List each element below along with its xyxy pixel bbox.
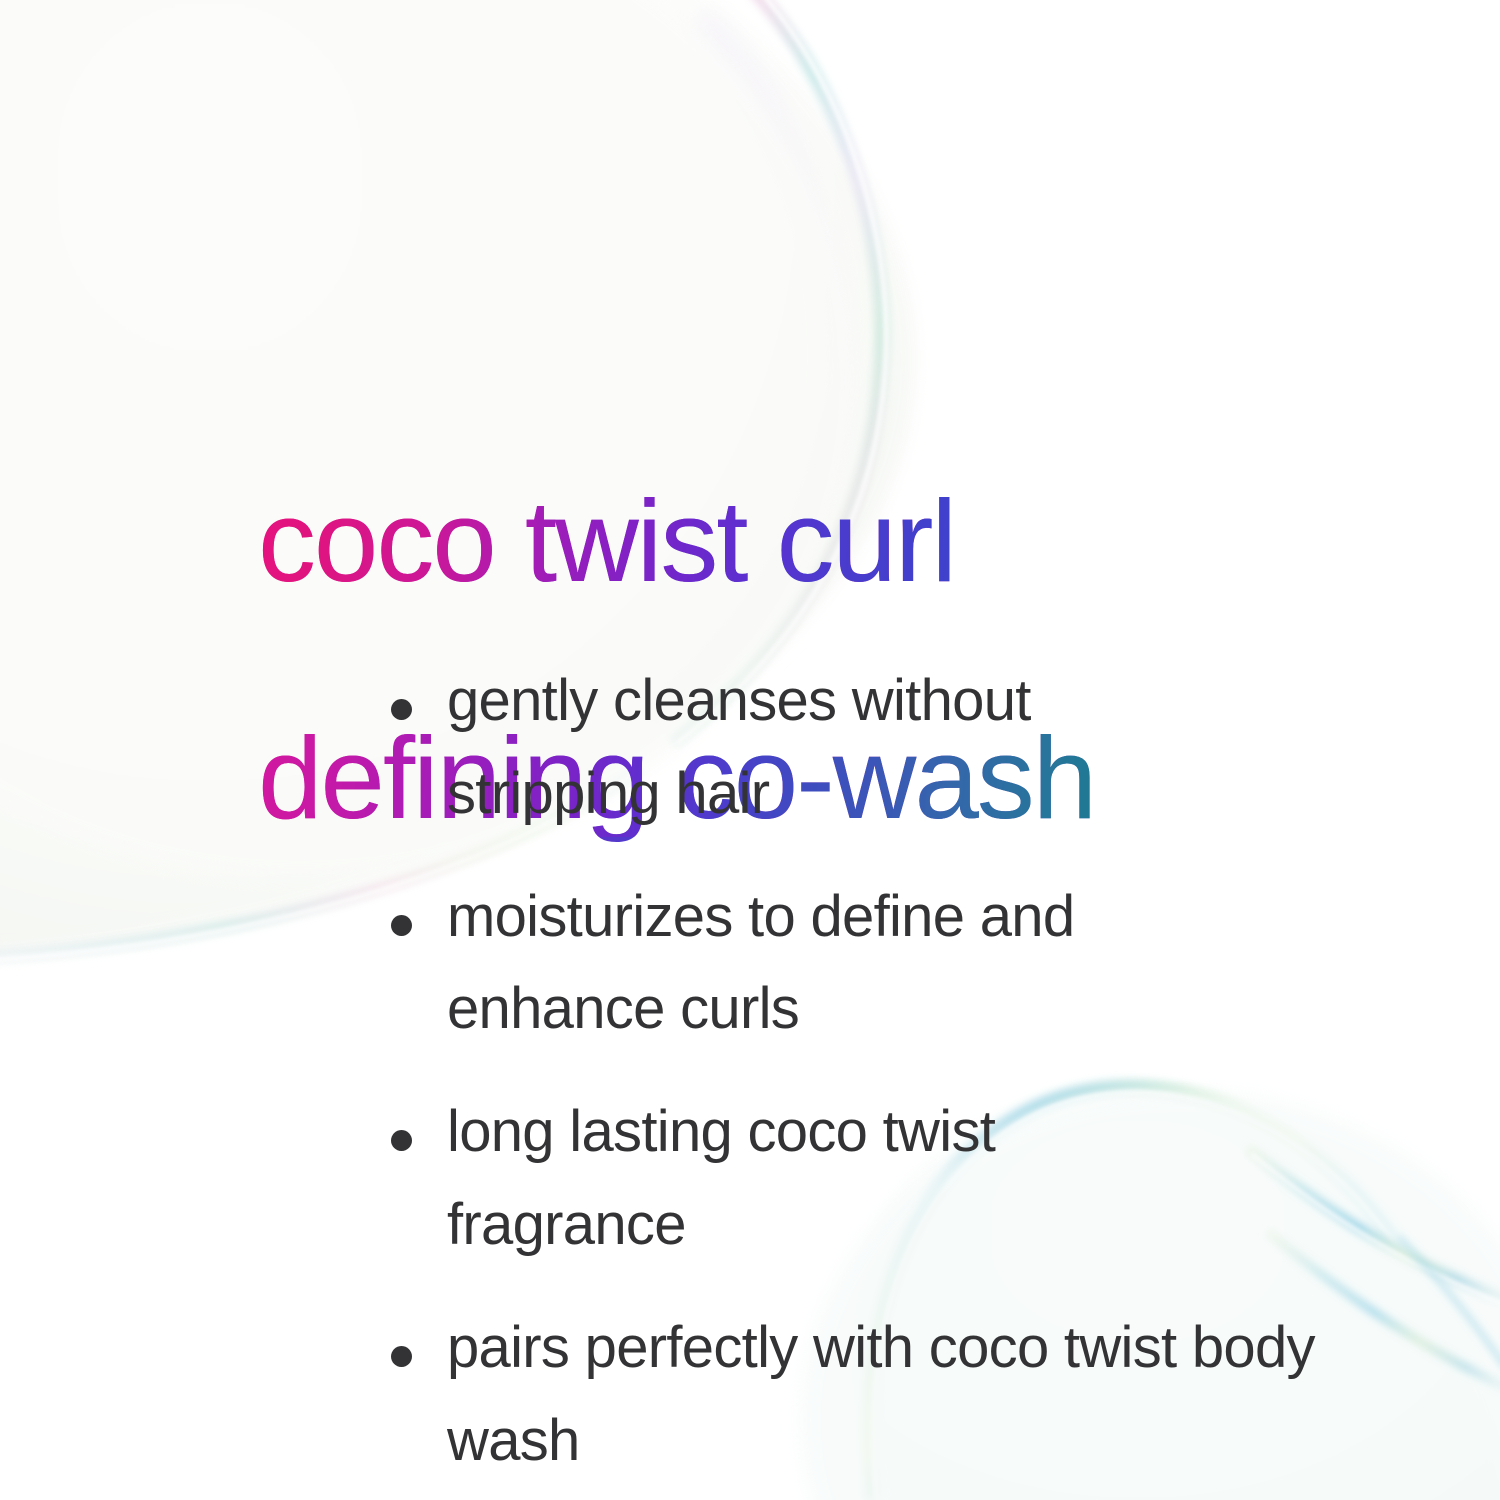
list-item: gently cleanses without stripping hair bbox=[383, 655, 1163, 841]
list-item-label: long lasting coco twist fragrance bbox=[447, 1099, 995, 1257]
bullet-dot-icon bbox=[391, 915, 412, 936]
product-detail-poster: coco twist curl defining co-wash gently … bbox=[0, 0, 1500, 1500]
page-title-line-1: coco twist curl bbox=[258, 482, 1228, 600]
bullet-dot-icon bbox=[391, 1130, 412, 1151]
list-item: pairs perfectly with coco twist body was… bbox=[383, 1302, 1393, 1488]
list-item: moisturizes to define and enhance curls bbox=[383, 871, 1243, 1057]
bullet-dot-icon bbox=[391, 1346, 412, 1367]
list-item-label: moisturizes to define and enhance curls bbox=[447, 884, 1074, 1042]
product-benefits-list: gently cleanses without stripping hair m… bbox=[383, 655, 1393, 1487]
list-item: long lasting coco twist fragrance bbox=[383, 1086, 1183, 1272]
bullet-dot-icon bbox=[391, 699, 412, 720]
list-item-label: pairs perfectly with coco twist body was… bbox=[447, 1315, 1315, 1473]
list-item-label: gently cleanses without stripping hair bbox=[447, 668, 1031, 826]
